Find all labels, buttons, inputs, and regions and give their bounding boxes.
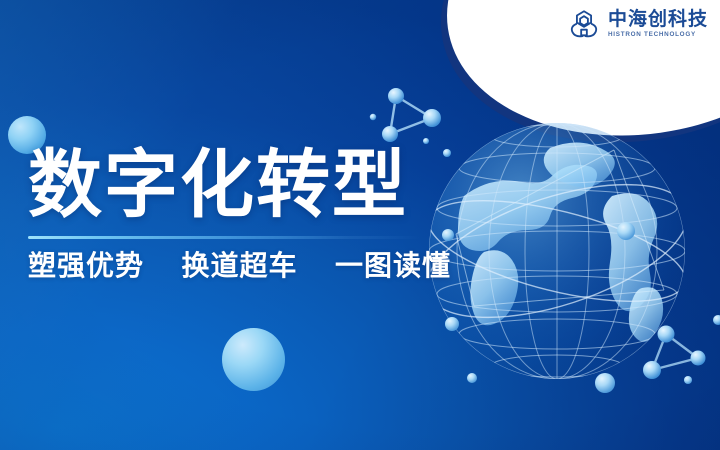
- headline-block: 数字化转型 塑强优势 换道超车 一图读懂: [28, 148, 451, 282]
- company-logo[interactable]: 中海创科技 HISTRON TECHNOLOGY: [567, 7, 708, 41]
- promo-banner: 中海创科技 HISTRON TECHNOLOGY 数字化转型 塑强优势 换道超车…: [0, 0, 720, 450]
- subtitle-part-2: 换道超车: [182, 249, 298, 282]
- network-nodes-bottom: [636, 292, 720, 392]
- subtitle-part-3: 一图读懂: [335, 249, 451, 282]
- decorative-sphere-large: [222, 328, 285, 391]
- logo-text-block: 中海创科技 HISTRON TECHNOLOGY: [608, 10, 708, 38]
- logo-name-en: HISTRON TECHNOLOGY: [608, 32, 710, 38]
- title-divider: [28, 236, 420, 239]
- subtitle: 塑强优势 换道超车 一图读懂: [28, 251, 451, 282]
- logo-name-cn: 中海创科技: [608, 10, 708, 29]
- page-title: 数字化转型: [28, 148, 451, 222]
- hexagon-cube-logo-icon: [567, 7, 601, 41]
- subtitle-part-1: 塑强优势: [28, 249, 144, 282]
